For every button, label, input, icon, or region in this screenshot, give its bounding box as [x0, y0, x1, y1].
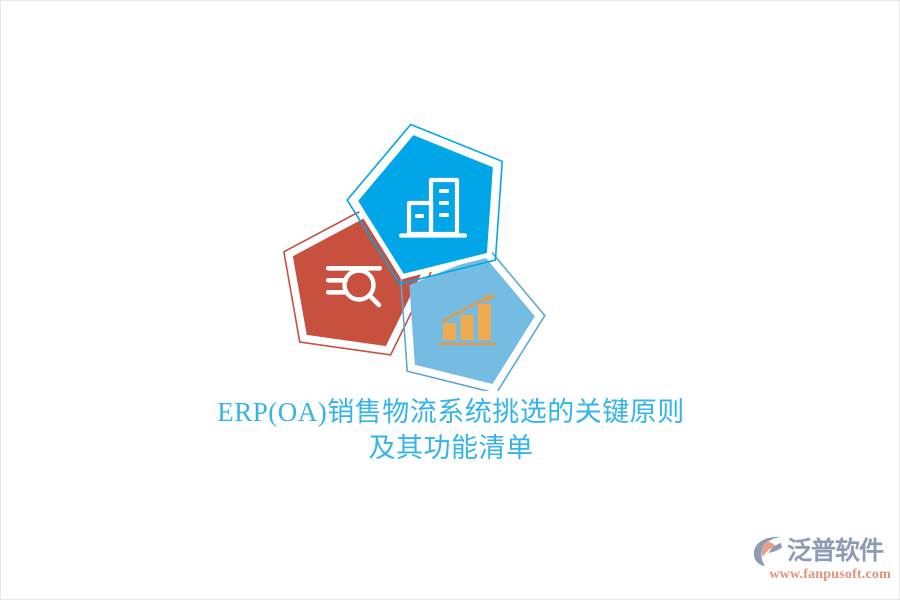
page-title-line-2: 及其功能清单 — [1, 431, 900, 467]
watermark-brand-row: 泛普软件 — [751, 533, 891, 569]
fanpu-circle-logo-icon — [751, 534, 785, 568]
watermark-brand-name: 泛普软件 — [787, 534, 883, 568]
watermark-url: www.fanpusoft.com — [751, 567, 891, 583]
page-title-line-1: ERP(OA)销售物流系统挑选的关键原则 — [1, 395, 900, 431]
watermark-logo: 泛普软件 www.fanpusoft.com — [751, 533, 891, 591]
pentagon-cluster-graphic — [1, 1, 900, 391]
page-root: ERP(OA)销售物流系统挑选的关键原则 及其功能清单 泛普软件 www.fan… — [0, 0, 900, 600]
page-title: ERP(OA)销售物流系统挑选的关键原则 及其功能清单 — [1, 395, 900, 466]
